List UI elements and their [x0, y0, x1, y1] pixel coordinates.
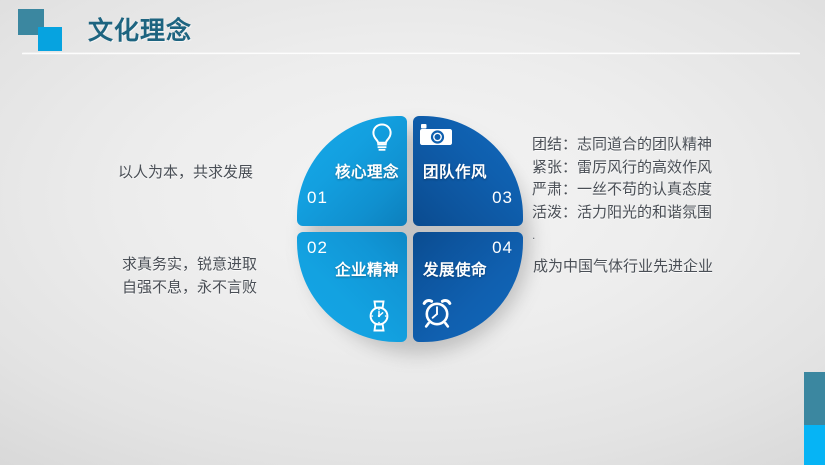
- petal-number: 04: [492, 238, 513, 258]
- petal-label: 企业精神: [335, 258, 399, 280]
- annotation-left-bottom-line-2: 自强不息，永不言败: [122, 276, 257, 299]
- edge-accent-teal: [804, 372, 825, 425]
- alarm-clock-icon: [421, 296, 453, 328]
- annotation-left-top: 以人为本，共求发展: [118, 162, 253, 183]
- petal-label: 团队作风: [423, 160, 487, 182]
- page-title: 文化理念: [88, 11, 192, 47]
- annotation-right-bottom: 成为中国气体行业先进企业: [533, 256, 713, 277]
- petal-diagram: 核心理念 01 团队作风 03 02 企业精神: [297, 116, 523, 342]
- petal-label: 发展使命: [423, 258, 487, 280]
- petal-number: 02: [307, 238, 328, 258]
- header-square-light-icon: [38, 27, 62, 51]
- annotation-right-top-line-5: .: [532, 224, 712, 247]
- annotation-right-top: 团结：志同道合的团队精神 紧张：雷厉风行的高效作风 严肃：一丝不苟的认真态度 活…: [532, 134, 712, 247]
- header-divider: [22, 52, 800, 55]
- slide-canvas: 文化理念 以人为本，共求发展 求真务实，锐意进取 自强不息，永不言败 团结：志同…: [0, 0, 825, 465]
- annotation-right-bottom-line: 成为中国气体行业先进企业: [533, 256, 713, 277]
- petal-number: 01: [307, 188, 328, 208]
- annotation-left-bottom-line-1: 求真务实，锐意进取: [122, 253, 257, 276]
- annotation-right-top-line-3: 严肃：一丝不苟的认真态度: [532, 179, 712, 202]
- annotation-right-top-line-1: 团结：志同道合的团队精神: [532, 134, 712, 157]
- camera-icon: [419, 120, 453, 148]
- annotation-left-bottom: 求真务实，锐意进取 自强不息，永不言败: [122, 253, 257, 299]
- annotation-left-top-line: 以人为本，共求发展: [118, 162, 253, 183]
- petal-number: 03: [492, 188, 513, 208]
- annotation-right-top-line-2: 紧张：雷厉风行的高效作风: [532, 157, 712, 180]
- petal-quadrant-enterprise-spirit[interactable]: 02 企业精神: [297, 232, 407, 342]
- petal-quadrant-team-style[interactable]: 团队作风 03: [413, 116, 523, 226]
- lightbulb-icon: [369, 122, 395, 152]
- annotation-right-top-line-4: 活泼：活力阳光的和谐氛围: [532, 202, 712, 225]
- petal-label: 核心理念: [335, 160, 399, 182]
- petal-quadrant-core-philosophy[interactable]: 核心理念 01: [297, 116, 407, 226]
- wristwatch-icon: [365, 300, 393, 332]
- edge-accent-cyan: [804, 425, 825, 465]
- slide-header: 文化理念: [0, 0, 825, 60]
- petal-quadrant-development-mission[interactable]: 04 发展使命: [413, 232, 523, 342]
